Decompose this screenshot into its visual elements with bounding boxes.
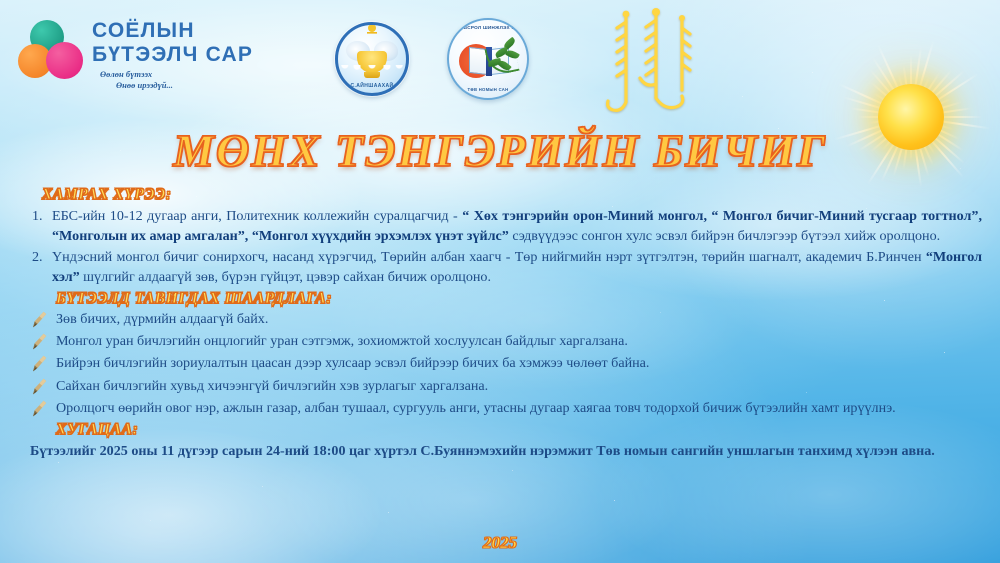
poster-canvas: СОЁЛЫН БҮТЭЭЛЧ САР Өөлөн бүтээх Өнөө ирэ… [0, 0, 1000, 563]
sparkle-dot [262, 486, 263, 487]
requirement-item: Бийрэн бичлэгийн зориулалтын цаасан дээр… [30, 354, 982, 374]
requirement-item-text: Монгол уран бичлэгийн онцлогийг уран сэт… [56, 333, 628, 349]
requirement-item-text: Бийрэн бичлэгийн зориулалтын цаасан дээр… [56, 355, 649, 371]
requirement-item: Зөв бичих, дүрмийн алдаагүй байх. [30, 310, 982, 330]
brand-circles-icon [16, 18, 86, 80]
scope-item: 2.Үндэсний монгол бичиг сонирхогч, насан… [30, 248, 982, 287]
brush-bullet-icon [32, 311, 47, 328]
sparkle-dot [512, 470, 513, 471]
scope-heading: ХАМРАХ ХҮРЭЭ: [42, 186, 172, 204]
brand-tagline-line-2: Өнөө ирээдүй... [116, 80, 253, 91]
brand-wordmark: СОЁЛЫН БҮТЭЭЛЧ САР Өөлөн бүтээх Өнөө ирэ… [92, 18, 253, 91]
brand-tagline-line-1: Өөлөн бүтээх [100, 69, 152, 79]
scope-list: 1.ЕБС-ийн 10-12 дугаар анги, Политехник … [30, 207, 982, 288]
sparkle-dot [58, 462, 59, 463]
page-title: МӨНХ ТЭНГЭРИЙН БИЧИГ [0, 124, 1000, 177]
brush-bullet-icon [32, 400, 47, 417]
scope-item-text: шүлгийг алдаагүй зөв, бүрэн гүйцэт, цэвэ… [80, 269, 491, 285]
year-label: 2025 [0, 533, 1000, 553]
wave-pattern [338, 65, 406, 77]
scope-item-text: Үндэсний монгол бичиг сонирхогч, насанд … [52, 249, 926, 265]
brand-tagline: Өөлөн бүтээх Өнөө ирээдүй... [100, 69, 253, 91]
pink-circle-icon [46, 42, 83, 79]
library-emblem-icon: БОЛОВСРОЛ ШИНЖЛЭХ УХААНЫ ЯАМ ТӨВ НОМЫН С… [447, 18, 529, 100]
sparkle-dot [388, 512, 389, 513]
requirements-heading: БҮТЭЭЛД ТАВИГДАХ ШААРДЛАГА: [56, 290, 332, 308]
brush-bullet-icon [32, 378, 47, 395]
soyombo-icon [364, 22, 380, 34]
olive-branch-icon [485, 42, 519, 78]
emblem-b-bottom-label: ТӨВ НОМЫН САН [449, 87, 527, 92]
emblem-a-ring-label: С.АЙНШААХАЙ [338, 83, 406, 89]
requirement-item: Оролцогч өөрийн овог нэр, ажлын газар, а… [30, 399, 982, 419]
scope-item: 1.ЕБС-ийн 10-12 дугаар анги, Политехник … [30, 207, 982, 246]
emblem-b-top-label: БОЛОВСРОЛ ШИНЖЛЭХ УХААНЫ ЯАМ [449, 25, 527, 30]
brush-bullet-icon [32, 333, 47, 350]
scope-item-text: ЕБС-ийн 10-12 дугаар анги, Политехник ко… [52, 208, 462, 224]
brand-line-1: СОЁЛЫН [92, 19, 253, 43]
requirement-item-text: Зөв бичих, дүрмийн алдаагүй байх. [56, 311, 268, 327]
requirement-item: Монгол уран бичлэгийн онцлогийг уран сэт… [30, 332, 982, 352]
sparkle-dot [742, 96, 743, 97]
poster-content: ХАМРАХ ХҮРЭЭ: 1.ЕБС-ийн 10-12 дугаар анг… [30, 186, 982, 461]
brand-line-2: БҮТЭЭЛЧ САР [92, 43, 253, 67]
deadline-text: Бүтээлийг 2025 оны 11 дүгээр сарын 24-ни… [30, 441, 982, 461]
deadline-heading: ХУГАЦАА: [56, 421, 138, 439]
brand-logo: СОЁЛЫН БҮТЭЭЛЧ САР Өөлөн бүтээх Өнөө ирэ… [16, 18, 253, 91]
requirements-list: Зөв бичих, дүрмийн алдаагүй байх.Монгол … [30, 310, 982, 419]
scope-item-text: сэдвүүдээс сонгон хулс эсвэл бийрэн бичл… [509, 228, 940, 244]
national-emblem-icon: С.АЙНШААХАЙ [335, 22, 409, 96]
sparkle-dot [614, 500, 615, 501]
scope-item-number: 2. [32, 248, 43, 268]
mongol-bichig-calligraphy-icon [596, 6, 714, 118]
requirement-item-text: Сайхан бичлэгийн хувьд хичээнгүй бичлэги… [56, 378, 488, 394]
requirement-item: Сайхан бичлэгийн хувьд хичээнгүй бичлэги… [30, 377, 982, 397]
scope-item-number: 1. [32, 207, 43, 227]
sparkle-dot [812, 72, 813, 73]
brush-bullet-icon [32, 355, 47, 372]
sparkle-dot [150, 520, 151, 521]
requirement-item-text: Оролцогч өөрийн овог нэр, ажлын газар, а… [56, 400, 896, 416]
